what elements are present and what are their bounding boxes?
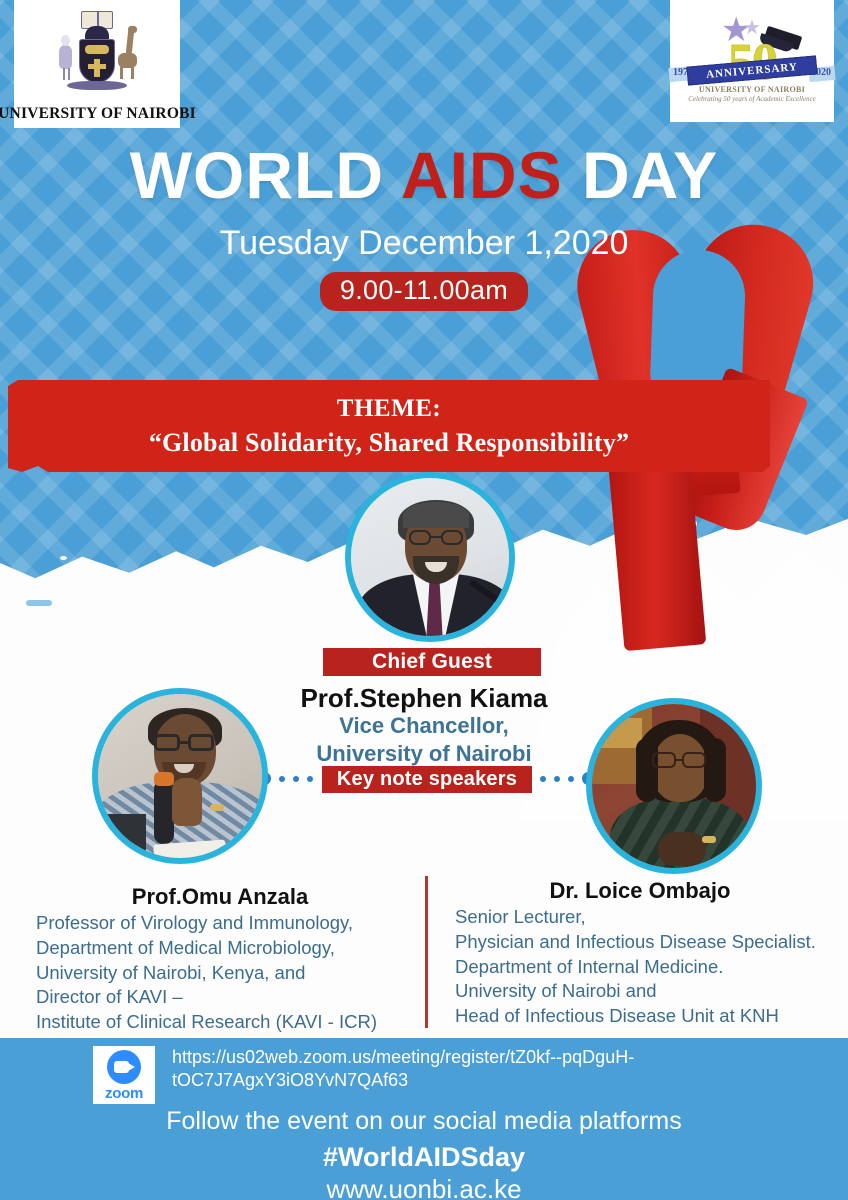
speaker-right-bio-line: Head of Infectious Disease Unit at KNH [455,1004,848,1029]
speaker-left-bio: Professor of Virology and Immunology, De… [36,911,436,1035]
speaker-left-bio-line: Department of Medical Microbiology, [36,936,436,961]
zoom-video-camera-icon [107,1050,141,1084]
theme-text: “Global Solidarity, Shared Responsibilit… [149,428,629,458]
speaker-left-bio-line: Director of KAVI – [36,985,436,1010]
poster-footer: zoom https://us02web.zoom.us/meeting/reg… [0,1038,848,1200]
follow-call-to-action: Follow the event on our social media pla… [0,1107,848,1136]
university-logo-label: UNIVERSITY OF NAIROBI [0,105,196,123]
title-part-day: DAY [563,138,719,212]
title-part-aids: AIDS [401,138,563,212]
anniversary-tagline: Celebrating 50 years of Academic Excelle… [677,95,827,103]
world-aids-day-poster: UNIVERSITY OF NAIROBI 50 1970 2020 ANNIV… [0,0,848,1200]
theme-label: THEME: [337,395,441,423]
anniversary-50-logo: 50 1970 2020 ANNIVERSARY UNIVERSITY OF N… [670,0,834,122]
speaker-left-bio-line: Professor of Virology and Immunology, [36,911,436,936]
keynote-speakers-badge: Key note speakers [322,766,532,793]
chief-guest-badge: Chief Guest [323,648,541,676]
paint-speck [60,556,67,560]
speaker-left-name: Prof.Omu Anzala [20,884,420,910]
zoom-logo[interactable]: zoom [93,1046,155,1104]
event-time-wrapper: 9.00-11.00am [0,272,848,311]
speaker-left-bio-line: University of Nairobi, Kenya, and [36,961,436,986]
speaker-right-name: Dr. Loice Ombajo [440,878,840,904]
speaker-right-bio-line: Physician and Infectious Disease Special… [455,930,848,955]
speaker-right-bio: Senior Lecturer, Physician and Infectiou… [455,905,848,1029]
paint-speck [26,600,52,606]
anniversary-50-icon: 50 1970 2020 ANNIVERSARY UNIVERSITY OF N… [677,11,827,111]
event-hashtag: #WorldAIDSday [0,1142,848,1173]
theme-banner: THEME: “Global Solidarity, Shared Respon… [8,380,770,472]
registration-link-line2: tOC7J7AgxY3iO8YvN7QAf63 [172,1069,792,1092]
registration-link[interactable]: https://us02web.zoom.us/meeting/register… [172,1046,792,1093]
zoom-logo-label: zoom [105,1085,143,1102]
speaker-right-bio-line: University of Nairobi and [455,979,848,1004]
title-part-world: WORLD [130,138,401,212]
page-title: WORLD AIDS DAY [0,142,848,208]
event-time-badge: 9.00-11.00am [320,272,528,311]
speaker-left-bio-line: Institute of Clinical Research (KAVI - I… [36,1010,436,1035]
speaker-right-bio-line: Department of Internal Medicine. [455,955,848,980]
registration-link-line1: https://us02web.zoom.us/meeting/register… [172,1046,792,1069]
university-crest-icon [51,9,143,99]
anniversary-institution: UNIVERSITY OF NAIROBI [677,85,827,94]
website-url[interactable]: www.uonbi.ac.ke [0,1174,848,1200]
university-of-nairobi-logo: UNIVERSITY OF NAIROBI [14,0,180,128]
avatar-speaker-left [92,688,268,864]
speaker-right-bio-line: Senior Lecturer, [455,905,848,930]
avatar-chief-guest [345,472,515,642]
event-date: Tuesday December 1,2020 [0,224,848,263]
avatar-speaker-right [586,698,762,874]
